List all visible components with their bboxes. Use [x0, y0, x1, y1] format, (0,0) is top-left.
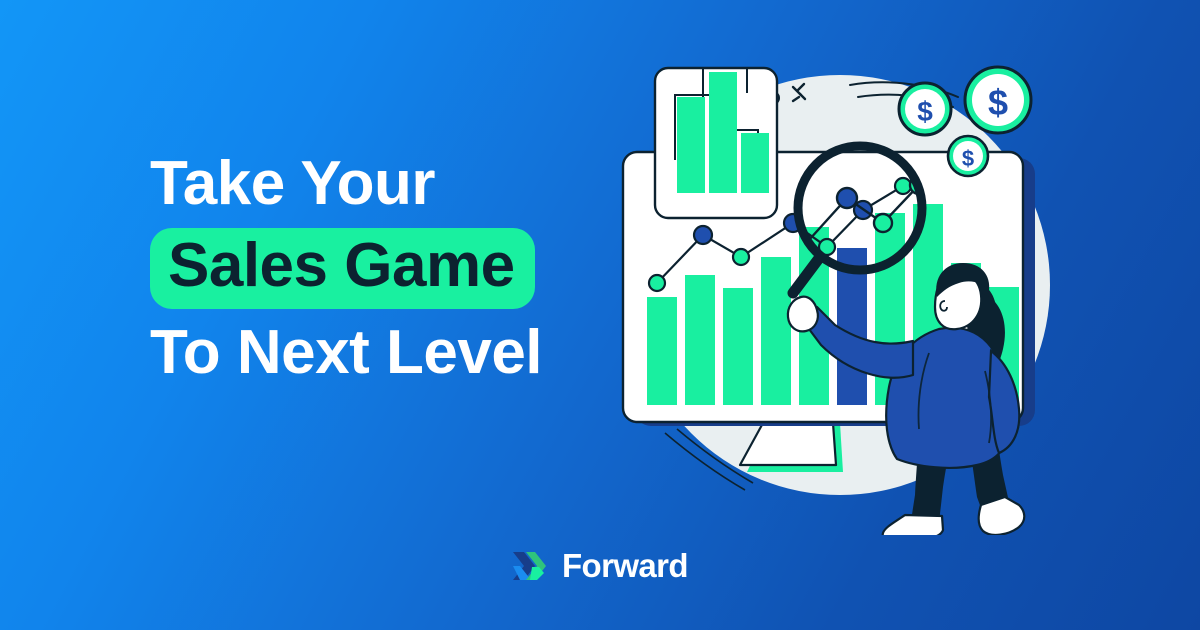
inset-bar-card: [655, 68, 777, 218]
dollar-coin-small: $: [948, 136, 988, 176]
svg-text:$: $: [988, 82, 1008, 123]
double-chevron-icon: [512, 551, 550, 581]
sales-analytics-illustration: $ $ $: [595, 35, 1095, 535]
brand-logo[interactable]: Forward: [0, 549, 1200, 582]
headline-block: Take Your Sales Game To Next Level: [150, 152, 670, 385]
marketing-banner: Take Your Sales Game To Next Level Forwa…: [0, 0, 1200, 630]
svg-text:$: $: [962, 146, 974, 171]
dollar-coin-medium: $: [899, 83, 951, 135]
headline-line-1: Take Your: [150, 152, 670, 216]
headline-highlight: Sales Game: [150, 228, 535, 309]
svg-text:$: $: [917, 96, 933, 127]
headline-line-2: To Next Level: [150, 321, 670, 385]
dollar-coin-large: $: [965, 67, 1031, 133]
logo-text: Forward: [562, 549, 688, 582]
headline-highlight-wrap: Sales Game: [150, 228, 670, 309]
